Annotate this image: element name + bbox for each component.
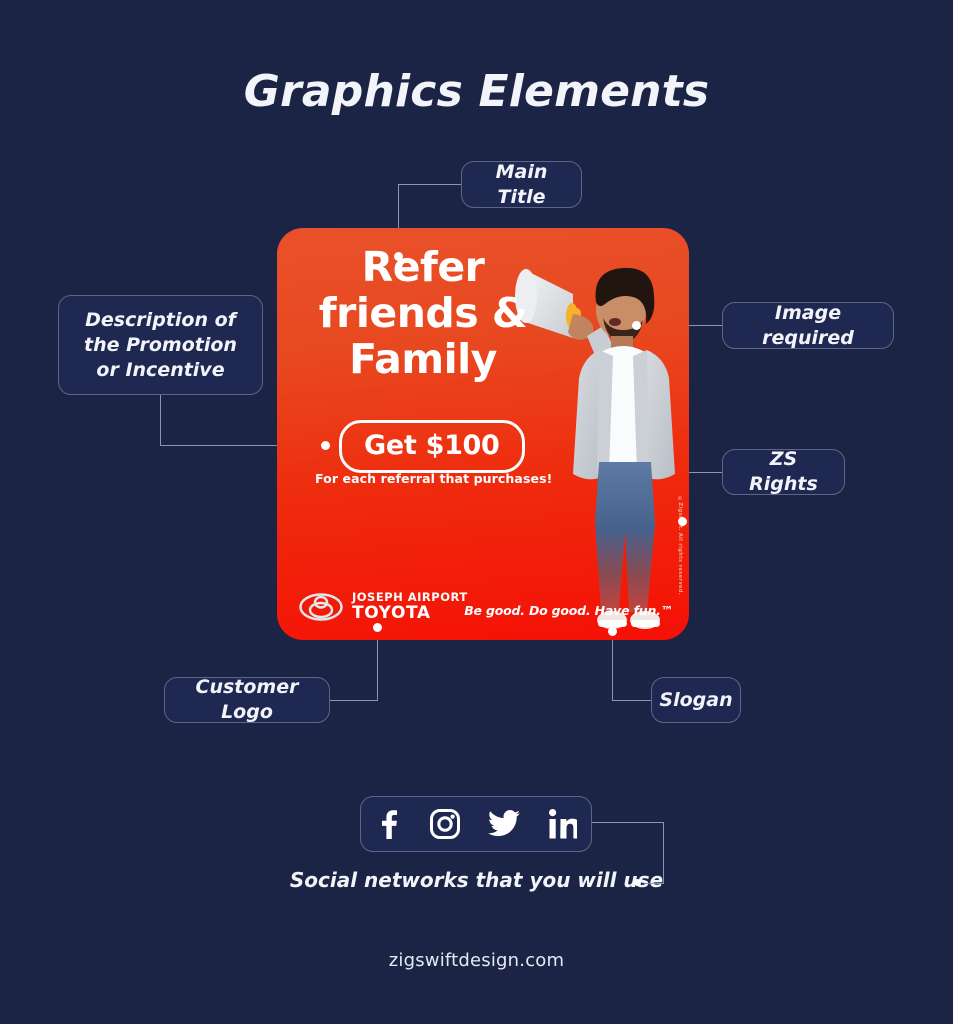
connector-dot-slogan [608,627,617,636]
connector-social-h2 [592,822,664,823]
annotation-slogan[interactable]: Slogan [651,677,741,723]
dealer-name-line-2: TOYOTA [352,605,468,622]
dealer-name: JOSEPH AIRPORT TOYOTA [352,592,468,623]
infographic-canvas: Graphics Elements Main Title Description… [0,0,953,1024]
connector-dot-logo [373,623,382,632]
card-slogan: Be good. Do good. Have fun.™ [464,603,673,618]
dealer-name-line-1: JOSEPH AIRPORT [352,592,468,604]
connector-slogan-h [612,700,652,701]
linkedin-icon[interactable] [549,809,577,839]
card-headline-line-1: Refer [303,244,543,290]
annotation-slogan-label: Slogan [659,688,732,713]
connector-dot-description [321,441,330,450]
annotation-image-required[interactable]: Image required [722,302,894,349]
cta-subtext: For each referral that purchases! [315,471,552,486]
connector-social-h1 [645,883,664,884]
customer-logo: JOSEPH AIRPORT TOYOTA [299,592,468,623]
annotation-zs-rights[interactable]: ZS Rights [722,449,845,495]
connector-dot-rights [678,517,687,526]
social-caption: Social networks that you will use [0,868,953,892]
page-title: Graphics Elements [0,66,953,117]
twitter-icon[interactable] [488,810,520,838]
social-networks-bar[interactable] [360,796,592,852]
card-headline: Refer friends & Family [303,244,543,382]
card-headline-line-2: friends & [303,290,543,336]
cta-button-label: Get $100 [364,430,500,461]
annotation-main-title[interactable]: Main Title [461,161,582,208]
connector-logo-h [330,700,378,701]
connector-dot-image [632,321,641,330]
card-headline-line-3: Family [303,336,543,382]
connector-slogan-v [612,631,613,700]
promo-card[interactable]: Refer friends & Family Get $100 For each… [277,228,689,640]
annotation-description-label: Description of the Promotion or Incentiv… [73,308,248,383]
instagram-icon[interactable] [430,809,460,839]
annotation-zs-rights-label: ZS Rights [737,447,830,497]
facebook-icon[interactable] [375,809,401,839]
annotation-image-required-label: Image required [737,301,879,351]
connector-main-title-h [398,184,462,185]
rights-text: ©Zigswift. All rights reserved. [677,496,683,595]
annotation-customer-logo-label: Customer Logo [179,675,315,725]
cta-button[interactable]: Get $100 [339,420,525,473]
connector-dot-social [634,879,641,886]
connector-dot-main-title [394,252,403,261]
connector-description-v [160,395,161,445]
footer-url: zigswiftdesign.com [0,950,953,971]
annotation-description[interactable]: Description of the Promotion or Incentiv… [58,295,263,395]
connector-social-v [663,822,664,883]
annotation-customer-logo[interactable]: Customer Logo [164,677,330,723]
toyota-logo-icon [299,592,343,622]
annotation-main-title-label: Main Title [476,160,567,210]
